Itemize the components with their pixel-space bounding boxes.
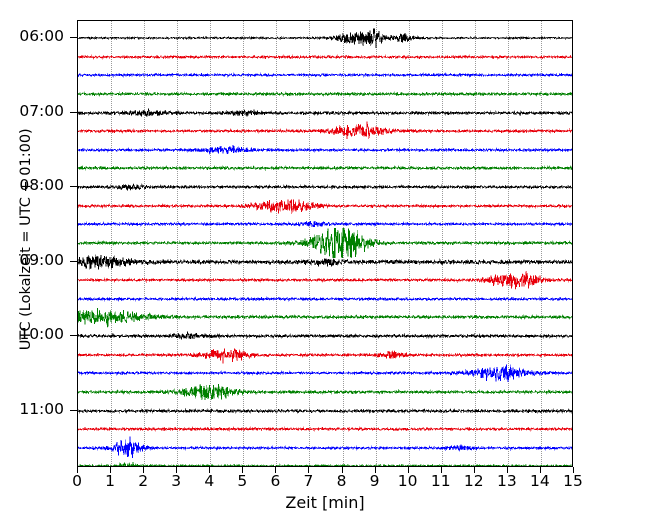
y-tick-label: 06:00 [19,29,64,45]
y-tick [70,410,77,411]
gridline-vertical [243,21,244,466]
seismic-trace [78,209,572,239]
x-axis-label: Zeit [min] [0,495,650,511]
seismic-trace [78,433,572,463]
gridline-vertical [111,21,112,466]
seismic-trace [78,377,572,407]
seismic-trace [78,228,572,258]
gridline-vertical [442,21,443,466]
y-tick-label: 08:00 [19,178,64,194]
seismic-trace [78,340,572,370]
y-tick [70,186,77,187]
gridline-vertical [475,21,476,466]
seismic-trace [78,358,572,388]
seismogram-figure: UTC (Lokalzeit = UTC + 01:00) 06:0007:00… [0,0,650,520]
gridline-vertical [144,21,145,466]
y-tick-label: 07:00 [19,104,64,120]
gridline-vertical [508,21,509,466]
gridline-vertical [210,21,211,466]
seismic-trace [78,265,572,295]
y-tick-label: 10:00 [19,327,64,343]
seismic-trace [78,321,572,351]
gridline-vertical [276,21,277,466]
seismic-trace [78,60,572,90]
y-tick [70,261,77,262]
x-tick-label: 15 [553,474,593,490]
y-tick [70,335,77,336]
seismic-trace [78,116,572,146]
gridline-vertical [541,21,542,466]
seismic-trace [78,153,572,183]
seismic-trace [78,98,572,128]
seismic-trace [78,302,572,332]
y-tick [70,112,77,113]
y-tick-label: 11:00 [19,402,64,418]
seismic-trace [78,451,572,467]
seismic-trace [78,284,572,314]
seismic-trace [78,172,572,202]
gridline-vertical [343,21,344,466]
seismic-trace [78,396,572,426]
plot-area [77,20,573,467]
y-tick [70,37,77,38]
seismic-trace [78,191,572,221]
seismic-trace [78,414,572,444]
gridline-vertical [177,21,178,466]
y-tick-label: 09:00 [19,253,64,269]
seismic-trace [78,42,572,72]
gridline-vertical [376,21,377,466]
gridline-vertical [409,21,410,466]
seismic-trace [78,79,572,109]
seismic-trace [78,135,572,165]
seismic-trace [78,247,572,277]
gridline-vertical [309,21,310,466]
seismic-trace [78,23,572,53]
